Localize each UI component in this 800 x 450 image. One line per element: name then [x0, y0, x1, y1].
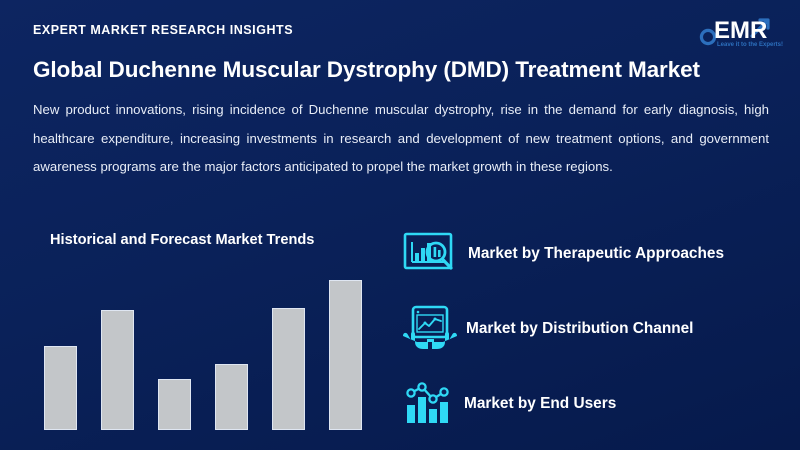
chart-bar: [101, 310, 134, 430]
segment-list: Market by Therapeutic Approaches: [398, 216, 790, 441]
chart-magnifier-screen-icon: [398, 226, 464, 282]
chart-bar: [44, 346, 77, 430]
chart-bar: [329, 280, 362, 430]
emr-logo-icon: EMR Leave it to the Experts!: [692, 6, 788, 50]
chart-heading: Historical and Forecast Market Trends: [50, 232, 314, 248]
page-title: Global Duchenne Muscular Dystrophy (DMD)…: [33, 57, 767, 83]
intro-paragraph: New product innovations, rising incidenc…: [33, 96, 769, 182]
chart-bar: [272, 308, 305, 430]
historical-forecast-bar-chart: [30, 275, 390, 435]
chart-bar: [215, 364, 248, 430]
segment-label: Market by Therapeutic Approaches: [468, 245, 724, 263]
segment-row-end-users[interactable]: Market by End Users: [398, 366, 790, 441]
bar-line-chart-icon: [398, 376, 464, 432]
svg-text:EMR: EMR: [714, 17, 767, 44]
segment-row-therapeutic-approaches[interactable]: Market by Therapeutic Approaches: [398, 216, 790, 291]
chart-bar: [158, 379, 191, 430]
hands-holding-tablet-chart-icon: [398, 301, 464, 357]
kicker-text: EXPERT MARKET RESEARCH INSIGHTS: [33, 23, 293, 37]
segment-row-distribution-channel[interactable]: Market by Distribution Channel: [398, 291, 790, 366]
segment-label: Market by End Users: [464, 395, 616, 413]
segment-label: Market by Distribution Channel: [466, 320, 693, 338]
svg-text:Leave it to the Experts!: Leave it to the Experts!: [717, 42, 783, 48]
slide-canvas: EXPERT MARKET RESEARCH INSIGHTS EMR Leav…: [0, 0, 800, 450]
emr-logo: EMR Leave it to the Experts!: [692, 6, 788, 50]
